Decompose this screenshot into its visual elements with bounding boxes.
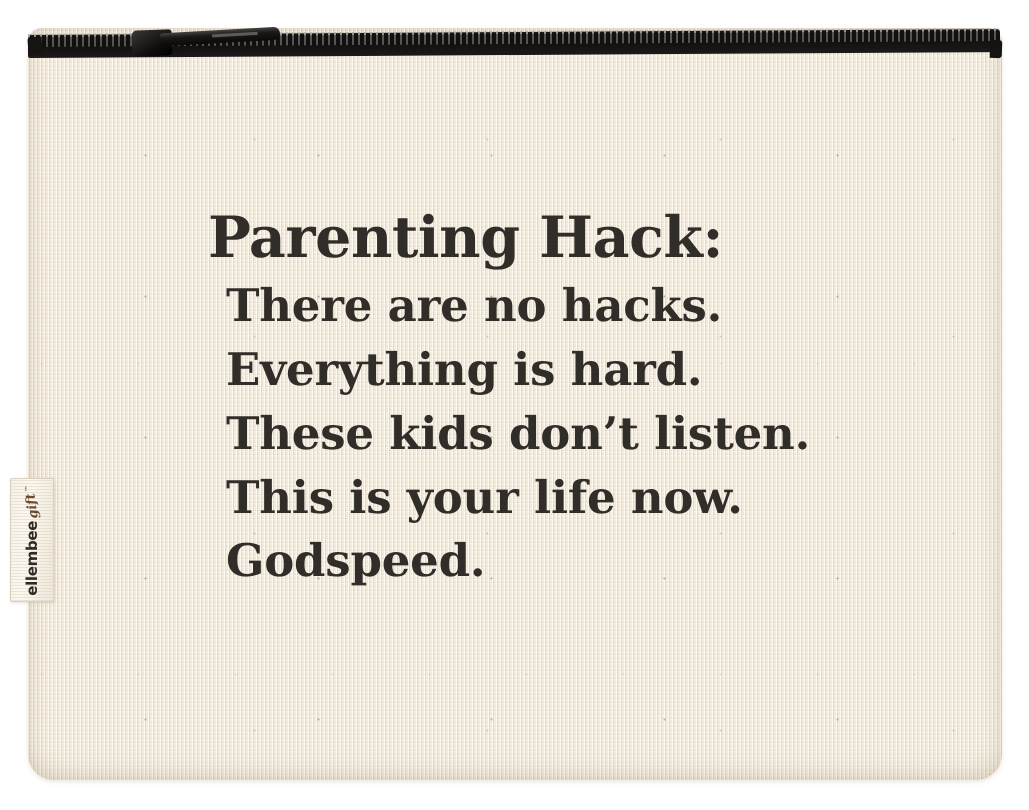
zipper-stop-right <box>990 40 1003 58</box>
printed-quote-block: Parenting Hack: There are no hacks. Ever… <box>208 206 868 593</box>
product-photo: Parenting Hack: There are no hacks. Ever… <box>0 0 1029 810</box>
brand-tag: ellembee gift ™ <box>10 478 54 602</box>
brand-tag-inner: ellembee gift ™ <box>23 484 41 596</box>
quote-line-3: These kids don’t listen. <box>226 402 868 466</box>
brand-script: gift <box>23 492 41 519</box>
brand-name: ellembee <box>23 521 41 596</box>
trademark-symbol: ™ <box>24 485 32 492</box>
quote-line-2: Everything is hard. <box>226 338 868 402</box>
zipper-stop-left <box>27 37 42 56</box>
quote-line-1: There are no hacks. <box>226 274 868 338</box>
quote-line-5: Godspeed. <box>226 529 868 593</box>
quote-title: Parenting Hack: <box>208 206 868 270</box>
zipper-assembly[interactable] <box>28 24 1000 58</box>
quote-line-4: This is your life now. <box>226 466 868 530</box>
